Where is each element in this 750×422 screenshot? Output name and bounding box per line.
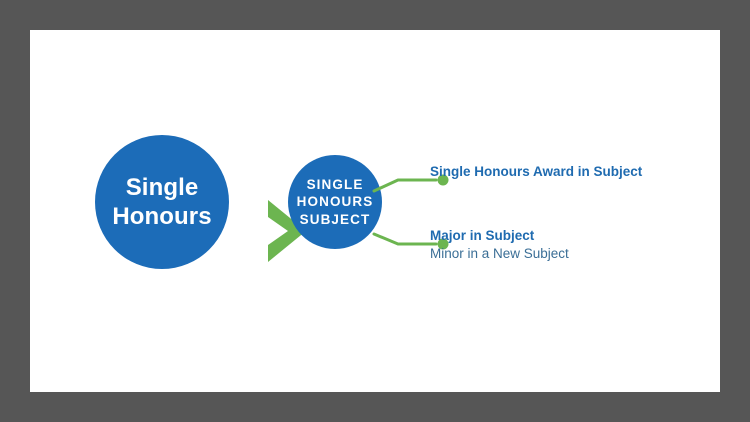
connector-line-upper — [374, 180, 436, 191]
pathway-diagram: Single Honours SINGLE HONOURS SUBJECT — [30, 30, 720, 392]
outcome-2-primary-label: Major in Subject — [430, 227, 569, 245]
node-single-honours: Single Honours — [95, 135, 229, 269]
node-single-honours-label: Single Honours — [112, 173, 211, 232]
outcome-1-primary-label: Single Honours Award in Subject — [430, 163, 642, 181]
outcome-item-1: Single Honours Award in Subject — [430, 163, 642, 181]
connector-line-lower — [374, 234, 436, 244]
slide-canvas: Single Honours SINGLE HONOURS SUBJECT — [30, 30, 720, 392]
screenshot-stage: Single Honours SINGLE HONOURS SUBJECT — [0, 0, 750, 422]
outcome-2-secondary-label: Minor in a New Subject — [430, 245, 569, 263]
outcome-item-2: Major in Subject Minor in a New Subject — [430, 227, 569, 263]
